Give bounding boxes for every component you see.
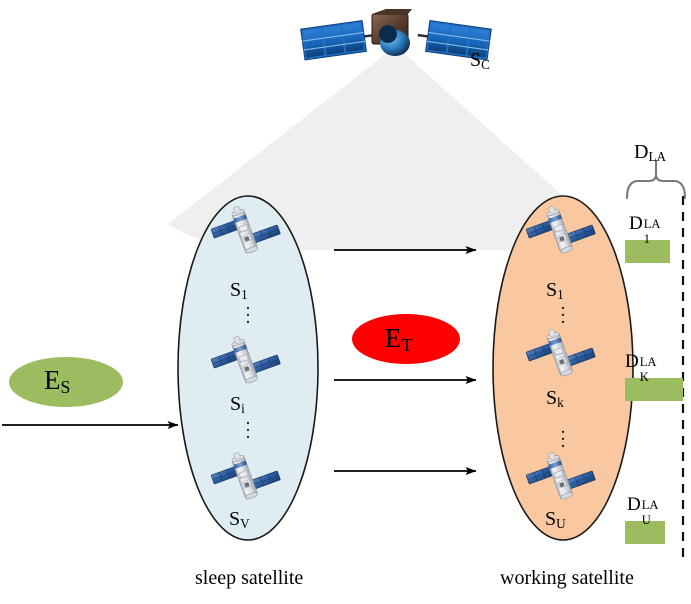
working-zone-caption: working satellite [500, 568, 634, 588]
diagram-vector-layer [0, 0, 691, 604]
demand-total-label: DLA [634, 142, 666, 163]
sleep-satellite-label-2: Si [230, 394, 245, 415]
working-satellite-label-2: Sk [546, 388, 564, 409]
control-satellite-label: SC [470, 50, 490, 71]
demand-brace [627, 174, 685, 198]
sleep-zone-ellipsis-2: ... [245, 415, 251, 436]
demand-bar-2 [625, 378, 683, 401]
figure-canvas: SC S1 Si SV ... ... S1 Sk SU ... ... ES … [0, 0, 691, 604]
working-zone-ellipsis-2: ... [560, 424, 566, 445]
working-satellite-label-3: SU [545, 509, 566, 530]
demand-bar-label-2: DLAK [625, 352, 639, 371]
energy-source-label: ES [44, 367, 70, 397]
demand-bar-label-3: DLAU [627, 495, 641, 514]
sleep-zone-ellipsis-1: ... [245, 300, 251, 321]
working-zone-ellipsis-1: ... [560, 300, 566, 321]
sleep-zone-caption: sleep satellite [195, 568, 303, 588]
sleep-satellite-label-3: SV [229, 509, 250, 530]
demand-bar-label-1: DLA1 [629, 214, 643, 233]
energy-transfer-label: ET [385, 325, 412, 355]
control-satellite-icon [301, 9, 492, 60]
